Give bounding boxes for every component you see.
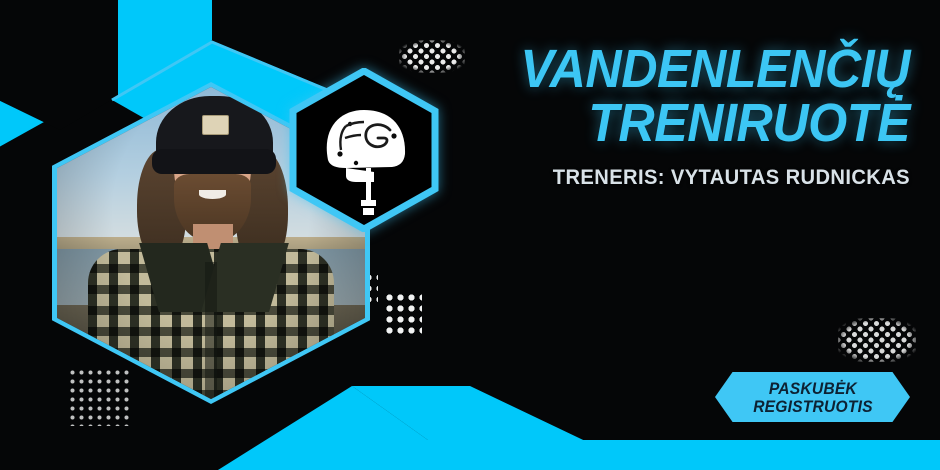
cta-line-2: REGISTRUOTIS bbox=[753, 398, 873, 415]
dot-pattern-right bbox=[838, 318, 916, 362]
cta-line-1: PASKUBĖK bbox=[768, 380, 856, 397]
headline-line-2: TRENIRUOTĖ bbox=[501, 98, 910, 150]
coach-subtitle: TRENERIS: VYTAUTAS RUDNICKAS bbox=[488, 166, 910, 190]
headline-line-1: VANDENLENČIŲ bbox=[501, 44, 910, 96]
brand-logo[interactable] bbox=[288, 68, 440, 232]
dot-pattern-middle-b bbox=[384, 292, 422, 334]
dot-pattern-bottom-left bbox=[68, 368, 130, 426]
headline-block: VANDENLENČIŲ TRENIRUOTĖ TRENERIS: VYTAUT… bbox=[470, 44, 910, 190]
helmet-icon bbox=[288, 68, 440, 232]
register-cta-button[interactable]: PASKUBĖK REGISTRUOTIS bbox=[715, 372, 910, 422]
promo-poster: VANDENLENČIŲ TRENIRUOTĖ TRENERIS: VYTAUT… bbox=[0, 0, 940, 470]
